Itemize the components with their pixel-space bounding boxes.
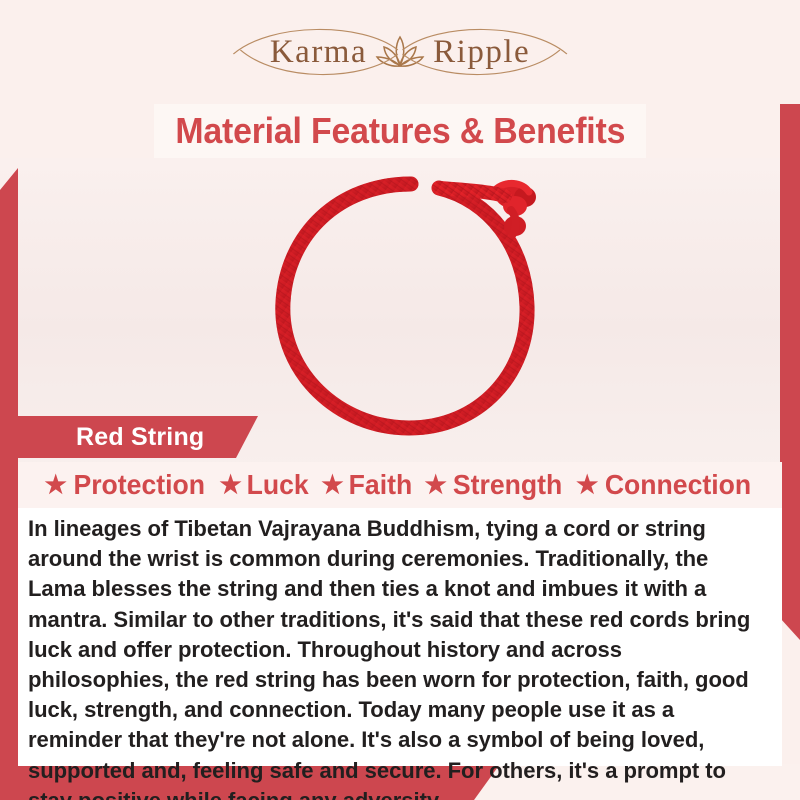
benefit-label: Connection [605, 469, 751, 501]
star-icon: ★ [219, 473, 241, 498]
benefit-label: Protection [73, 469, 205, 501]
brand-name-right: Ripple [433, 34, 530, 71]
benefit-item: ★ Strength [421, 469, 570, 501]
benefits-row: ★ Protection ★ Luck ★ Faith ★ Strength ★… [18, 462, 782, 508]
star-icon: ★ [45, 473, 67, 498]
lotus-icon [373, 29, 427, 75]
decor-left-red-bar [0, 168, 18, 800]
infographic-poster: Karma Ripple Material Features & Benefit… [0, 0, 800, 800]
benefit-label: Faith [348, 469, 412, 501]
star-icon: ★ [321, 473, 343, 498]
red-string-bracelet-image [243, 150, 573, 480]
brand-header: Karma Ripple [0, 0, 800, 104]
brand-logo: Karma Ripple [224, 29, 576, 75]
benefit-item: ★ Connection [572, 469, 759, 501]
benefit-label: Strength [453, 469, 562, 501]
benefit-item: ★ Faith [317, 469, 417, 501]
brand-name-left: Karma [270, 34, 367, 71]
description-panel: In lineages of Tibetan Vajrayana Buddhis… [18, 508, 782, 766]
benefit-label: Luck [246, 469, 308, 501]
star-icon: ★ [425, 473, 447, 498]
title-band: Material Features & Benefits [154, 104, 646, 158]
description-text: In lineages of Tibetan Vajrayana Buddhis… [28, 514, 755, 800]
benefit-item: ★ Protection [41, 469, 213, 501]
benefit-item: ★ Luck [215, 469, 314, 501]
product-name-label: Red String [18, 423, 204, 452]
page-title: Material Features & Benefits [175, 110, 625, 152]
star-icon: ★ [576, 473, 598, 498]
product-name-ribbon: Red String [18, 416, 258, 458]
